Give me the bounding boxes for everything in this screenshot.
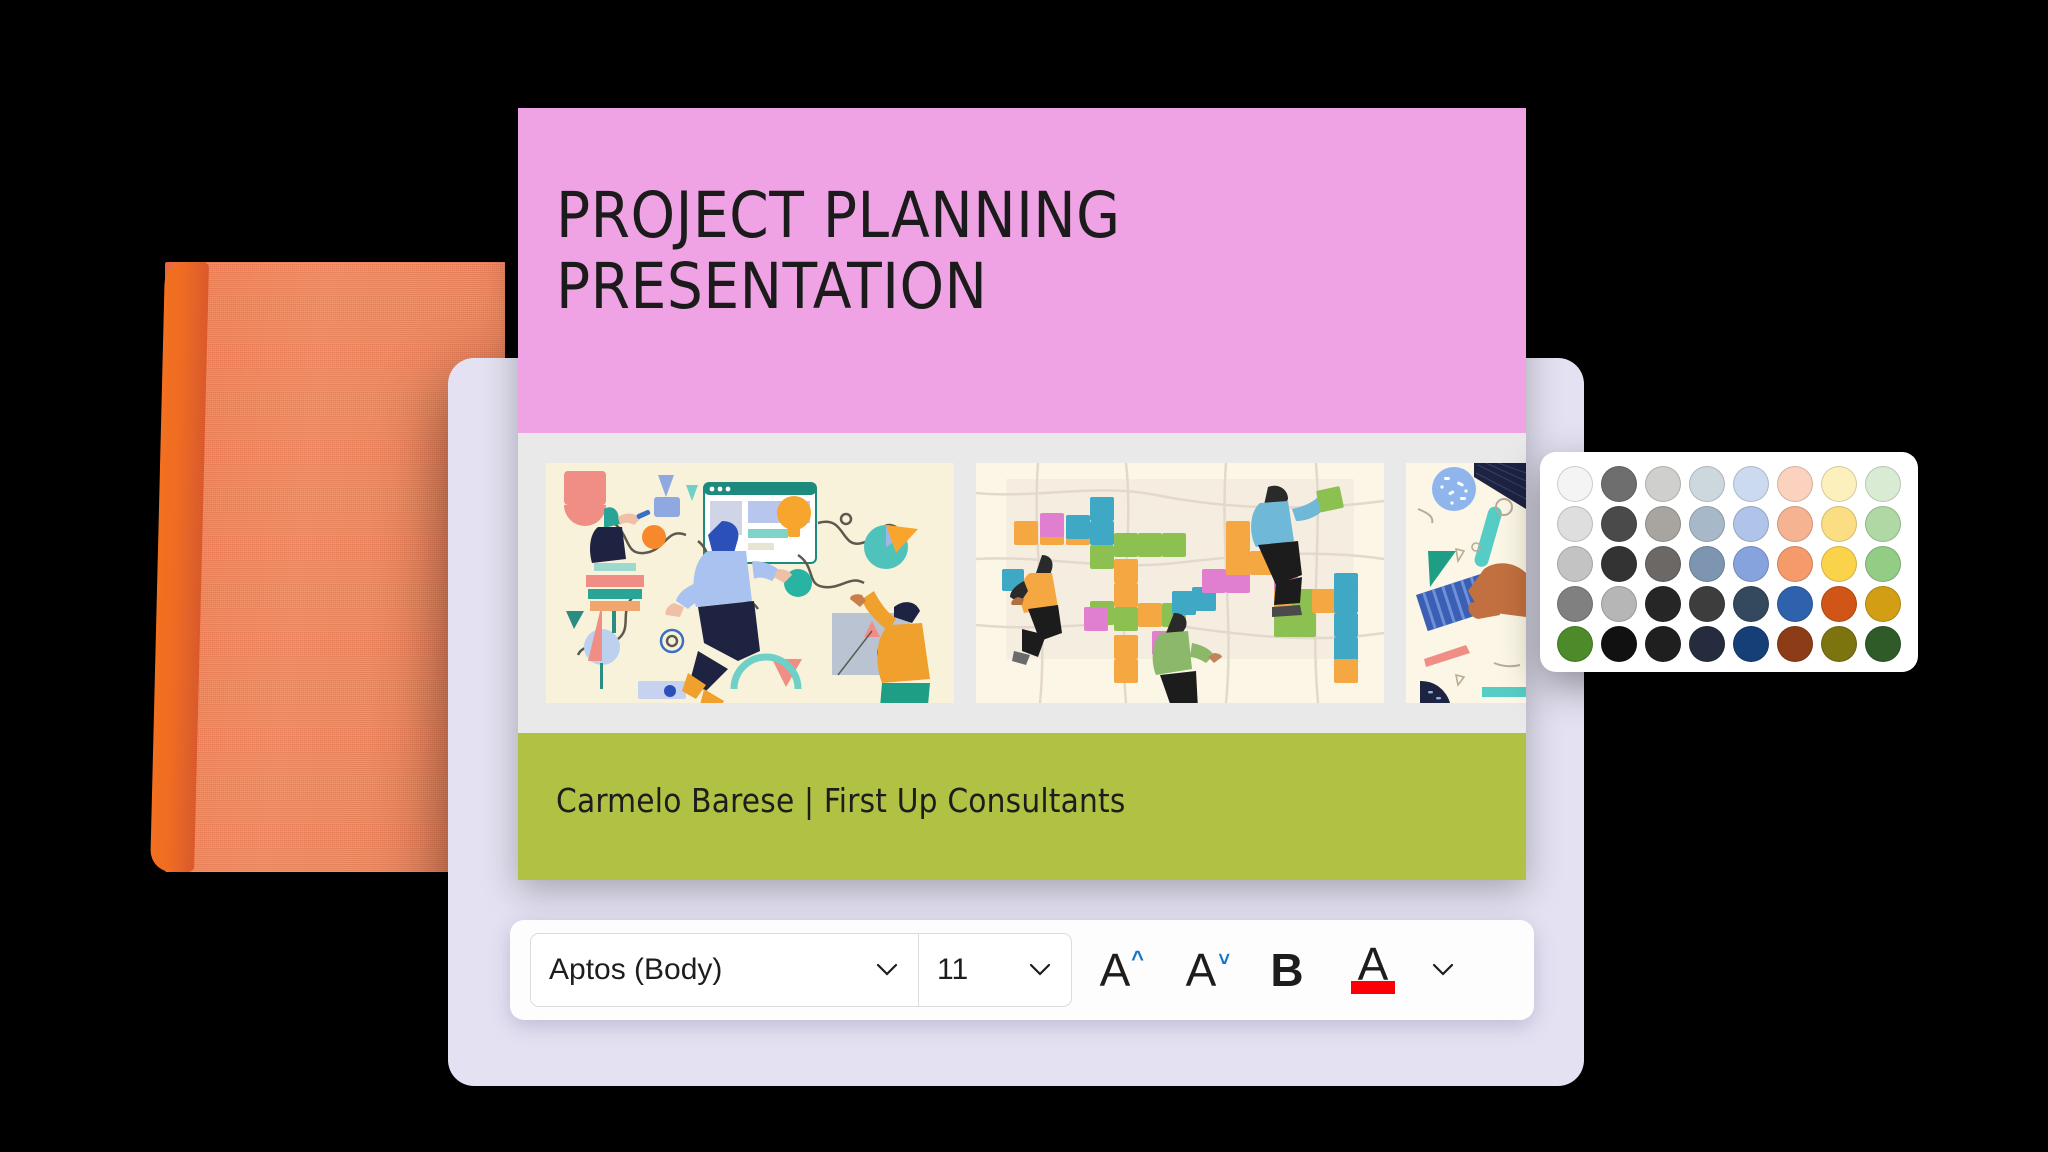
color-swatch-2-5[interactable] — [1777, 546, 1813, 582]
font-color-swatch — [1351, 981, 1395, 994]
color-swatch-0-5[interactable] — [1777, 466, 1813, 502]
shrink-font-label: A — [1186, 947, 1217, 993]
caret-up-icon: ^ — [1131, 948, 1144, 970]
font-color-dropdown-button[interactable] — [1416, 934, 1460, 1006]
color-swatch-1-6[interactable] — [1821, 506, 1857, 542]
slide-image-2[interactable] — [1406, 463, 1526, 703]
slide-title[interactable]: PROJECT PLANNING PRESENTATION — [556, 180, 1456, 322]
color-swatch-3-3[interactable] — [1689, 586, 1725, 622]
color-swatch-0-6[interactable] — [1821, 466, 1857, 502]
font-color-button[interactable]: A — [1330, 934, 1416, 1006]
color-swatch-1-4[interactable] — [1733, 506, 1769, 542]
color-swatch-3-6[interactable] — [1821, 586, 1857, 622]
color-swatch-0-1[interactable] — [1601, 466, 1637, 502]
color-swatch-4-1[interactable] — [1601, 626, 1637, 662]
chevron-down-icon — [1430, 962, 1456, 978]
color-swatch-2-3[interactable] — [1689, 546, 1725, 582]
slide-image-0[interactable] — [546, 463, 954, 703]
color-swatch-1-3[interactable] — [1689, 506, 1725, 542]
color-swatch-2-6[interactable] — [1821, 546, 1857, 582]
color-swatch-1-1[interactable] — [1601, 506, 1637, 542]
color-palette-popover[interactable] — [1540, 452, 1918, 672]
color-swatch-2-4[interactable] — [1733, 546, 1769, 582]
color-swatch-0-0[interactable] — [1557, 466, 1593, 502]
color-swatch-3-4[interactable] — [1733, 586, 1769, 622]
color-swatch-3-2[interactable] — [1645, 586, 1681, 622]
color-swatch-4-4[interactable] — [1733, 626, 1769, 662]
illustration-people-sticky-notes-board — [976, 463, 1384, 703]
presentation-slide[interactable]: PROJECT PLANNING PRESENTATION — [518, 108, 1526, 880]
font-size-dropdown[interactable]: 11 — [919, 934, 1071, 1006]
color-swatch-1-7[interactable] — [1865, 506, 1901, 542]
color-swatch-3-1[interactable] — [1601, 586, 1637, 622]
color-swatch-2-2[interactable] — [1645, 546, 1681, 582]
color-swatch-3-5[interactable] — [1777, 586, 1813, 622]
font-name-dropdown[interactable]: Aptos (Body) — [531, 934, 919, 1006]
color-swatch-0-4[interactable] — [1733, 466, 1769, 502]
format-toolbar: Aptos (Body) 11 A ^ A ˅ B A — [510, 920, 1534, 1020]
color-swatch-4-6[interactable] — [1821, 626, 1857, 662]
font-size-value: 11 — [937, 953, 968, 987]
bold-button[interactable]: B — [1244, 934, 1330, 1006]
illustration-people-ideas-network — [546, 463, 954, 703]
color-swatch-3-0[interactable] — [1557, 586, 1593, 622]
color-swatch-1-5[interactable] — [1777, 506, 1813, 542]
increase-font-size-button[interactable]: A ^ — [1072, 934, 1158, 1006]
font-name-value: Aptos (Body) — [549, 953, 722, 987]
bold-label: B — [1270, 943, 1303, 997]
slide-image-band — [518, 433, 1526, 733]
color-swatch-3-7[interactable] — [1865, 586, 1901, 622]
chevron-down-icon — [874, 962, 900, 978]
color-swatch-1-2[interactable] — [1645, 506, 1681, 542]
color-swatch-4-0[interactable] — [1557, 626, 1593, 662]
color-swatch-0-2[interactable] — [1645, 466, 1681, 502]
color-swatch-4-5[interactable] — [1777, 626, 1813, 662]
color-swatch-4-7[interactable] — [1865, 626, 1901, 662]
chevron-down-icon — [1027, 962, 1053, 978]
color-swatch-0-7[interactable] — [1865, 466, 1901, 502]
screenshot-canvas: PROJECT PLANNING PRESENTATION — [0, 0, 2048, 1152]
color-swatch-2-7[interactable] — [1865, 546, 1901, 582]
slide-byline[interactable]: Carmelo Barese | First Up Consultants — [556, 781, 1126, 820]
illustration-hand-drawing-tools — [1406, 463, 1526, 703]
color-swatch-0-3[interactable] — [1689, 466, 1725, 502]
caret-down-icon: ˅ — [1218, 950, 1230, 970]
color-swatch-2-0[interactable] — [1557, 546, 1593, 582]
slide-footer-band: Carmelo Barese | First Up Consultants — [518, 733, 1526, 880]
slide-image-1[interactable] — [976, 463, 1384, 703]
color-swatch-2-1[interactable] — [1601, 546, 1637, 582]
color-swatch-4-2[interactable] — [1645, 626, 1681, 662]
color-swatch-1-0[interactable] — [1557, 506, 1593, 542]
decrease-font-size-button[interactable]: A ˅ — [1158, 934, 1244, 1006]
color-swatch-4-3[interactable] — [1689, 626, 1725, 662]
slide-title-band: PROJECT PLANNING PRESENTATION — [518, 108, 1526, 433]
grow-font-label: A — [1100, 947, 1131, 993]
font-combo-group: Aptos (Body) 11 — [530, 933, 1072, 1007]
